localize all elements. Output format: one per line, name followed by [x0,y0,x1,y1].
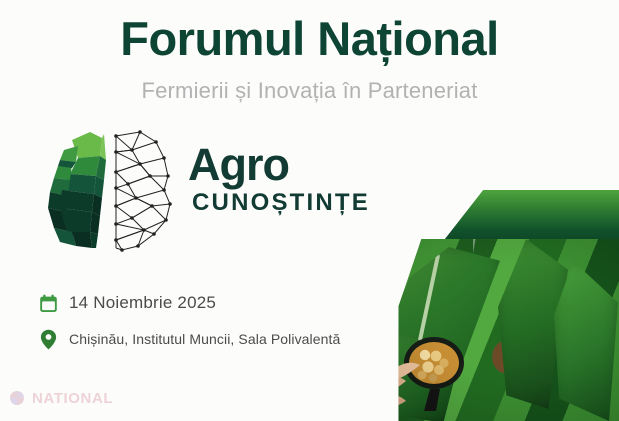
event-details: 14 Noiembrie 2025 Chișinău, Institutul M… [38,292,340,364]
event-date-row: 14 Noiembrie 2025 [38,292,340,314]
corn-field-photo [378,239,619,421]
brand-logo: Agro CUNOȘTINȚE [28,128,358,256]
page-subtitle: Fermierii și Inovația în Parteneriat [0,78,619,104]
photo-vignette [378,239,619,421]
event-date-label: 14 Noiembrie 2025 [69,293,216,313]
national-logo-icon [8,389,26,407]
brand-name-primary: Agro [188,144,370,185]
watermark: NATIONAL [8,389,113,407]
watermark-label: NATIONAL [32,390,113,407]
event-venue-label: Chișinău, Institutul Muncii, Sala Poliva… [69,331,340,347]
brand-name-secondary: CUNOȘTINȚE [188,189,370,217]
green-angled-band [441,190,619,244]
poster-canvas: Forumul Național Fermierii și Inovația î… [0,0,619,421]
logo-leaf-facets [48,132,106,248]
page-title: Forumul Național [0,14,619,63]
logo-mesh-wireframe [116,132,170,250]
brand-wordmark: Agro CUNOȘTINȚE [188,144,370,217]
location-pin-icon [38,328,58,350]
calendar-icon [38,292,58,314]
brain-leaf-logo-icon [28,128,178,254]
event-location-row: Chișinău, Institutul Muncii, Sala Poliva… [38,328,340,350]
